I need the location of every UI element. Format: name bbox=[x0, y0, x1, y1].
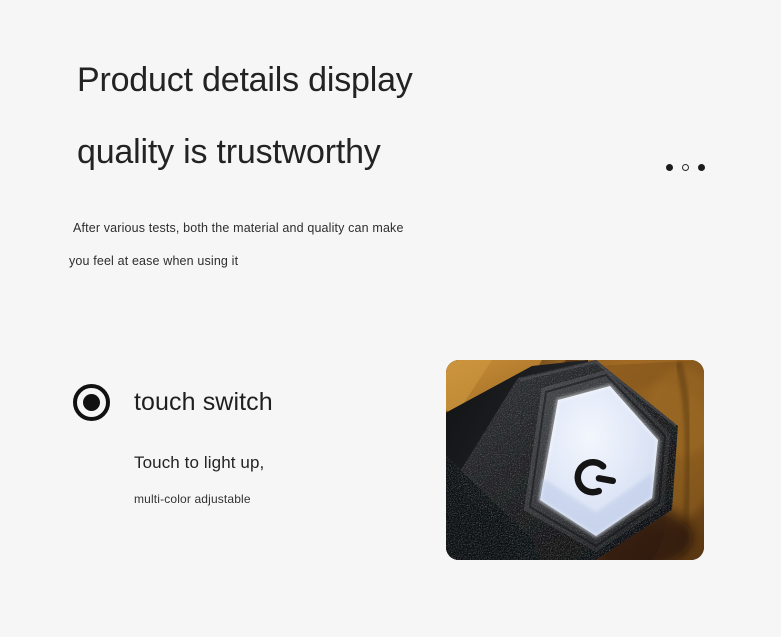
page-subtitle-line-1: After various tests, both the material a… bbox=[69, 212, 589, 245]
carousel-dot-2[interactable] bbox=[682, 164, 689, 171]
feature-description-line-2: multi-color adjustable bbox=[134, 492, 413, 506]
product-detail-page: Product details display quality is trust… bbox=[0, 0, 781, 637]
feature-title: touch switch bbox=[134, 388, 273, 417]
feature-header: touch switch bbox=[73, 383, 413, 421]
page-title-line-1: Product details display bbox=[77, 44, 637, 116]
feature-touch-switch: touch switch Touch to light up, multi-co… bbox=[73, 383, 413, 506]
product-photo bbox=[446, 360, 704, 560]
carousel-dots[interactable] bbox=[666, 164, 705, 171]
touch-switch-icon-core bbox=[83, 394, 100, 411]
page-subtitle-line-2: you feel at ease when using it bbox=[69, 245, 589, 278]
page-subtitle: After various tests, both the material a… bbox=[69, 212, 589, 278]
carousel-dot-1[interactable] bbox=[666, 164, 673, 171]
touch-switch-icon bbox=[73, 384, 110, 421]
product-photo-illustration bbox=[446, 360, 704, 560]
feature-description-line-1: Touch to light up, bbox=[134, 453, 413, 473]
page-title-line-2: quality is trustworthy bbox=[77, 116, 637, 188]
page-title: Product details display quality is trust… bbox=[77, 44, 637, 188]
carousel-dot-3[interactable] bbox=[698, 164, 705, 171]
